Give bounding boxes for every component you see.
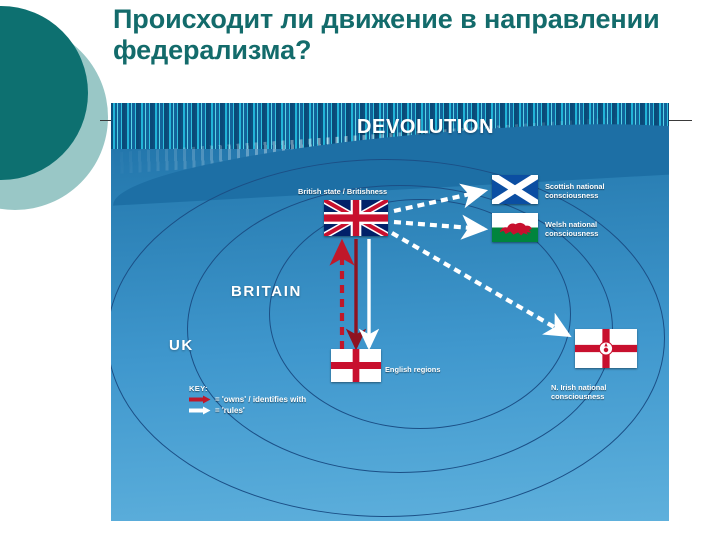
legend-row-rules: = 'rules' bbox=[189, 406, 306, 415]
caption-scottish-consciousness: Scottish national consciousness bbox=[545, 182, 631, 201]
northern-ireland-ulster-banner-flag bbox=[575, 329, 637, 368]
union-jack-flag bbox=[324, 200, 388, 236]
legend-text-rules: = 'rules' bbox=[215, 406, 245, 415]
legend-text-owns: = 'owns' / identifies with bbox=[215, 395, 306, 404]
arrow-uk-to-northern-ireland bbox=[392, 233, 568, 335]
red-arrow-icon bbox=[189, 395, 211, 404]
caption-n-irish-consciousness: N. Irish national consciousness bbox=[551, 383, 643, 402]
rule-right bbox=[668, 120, 692, 121]
arrow-layer bbox=[111, 103, 669, 521]
legend-row-owns: = 'owns' / identifies with bbox=[189, 395, 306, 404]
caption-english-regions: English regions bbox=[385, 365, 465, 374]
white-arrow-icon bbox=[189, 406, 211, 415]
england-st-george-flag bbox=[331, 349, 381, 382]
page-title: Происходит ли движение в направлении фед… bbox=[113, 4, 703, 66]
caption-welsh-consciousness: Welsh national consciousness bbox=[545, 220, 631, 239]
devolution-diagram-image: DEVOLUTION BRITAIN UK bbox=[111, 103, 669, 521]
decorative-circle-light bbox=[0, 24, 108, 210]
arrow-uk-to-wales bbox=[394, 222, 484, 229]
caption-british-state: British state / Britishness bbox=[298, 187, 448, 196]
decorative-circle-dark bbox=[0, 6, 88, 180]
wales-dragon-flag bbox=[492, 213, 538, 242]
legend-key: KEY: = 'owns' / identifies with = 'rules… bbox=[189, 384, 306, 415]
legend-title: KEY: bbox=[189, 384, 306, 393]
scotland-saltire-flag bbox=[492, 175, 538, 204]
